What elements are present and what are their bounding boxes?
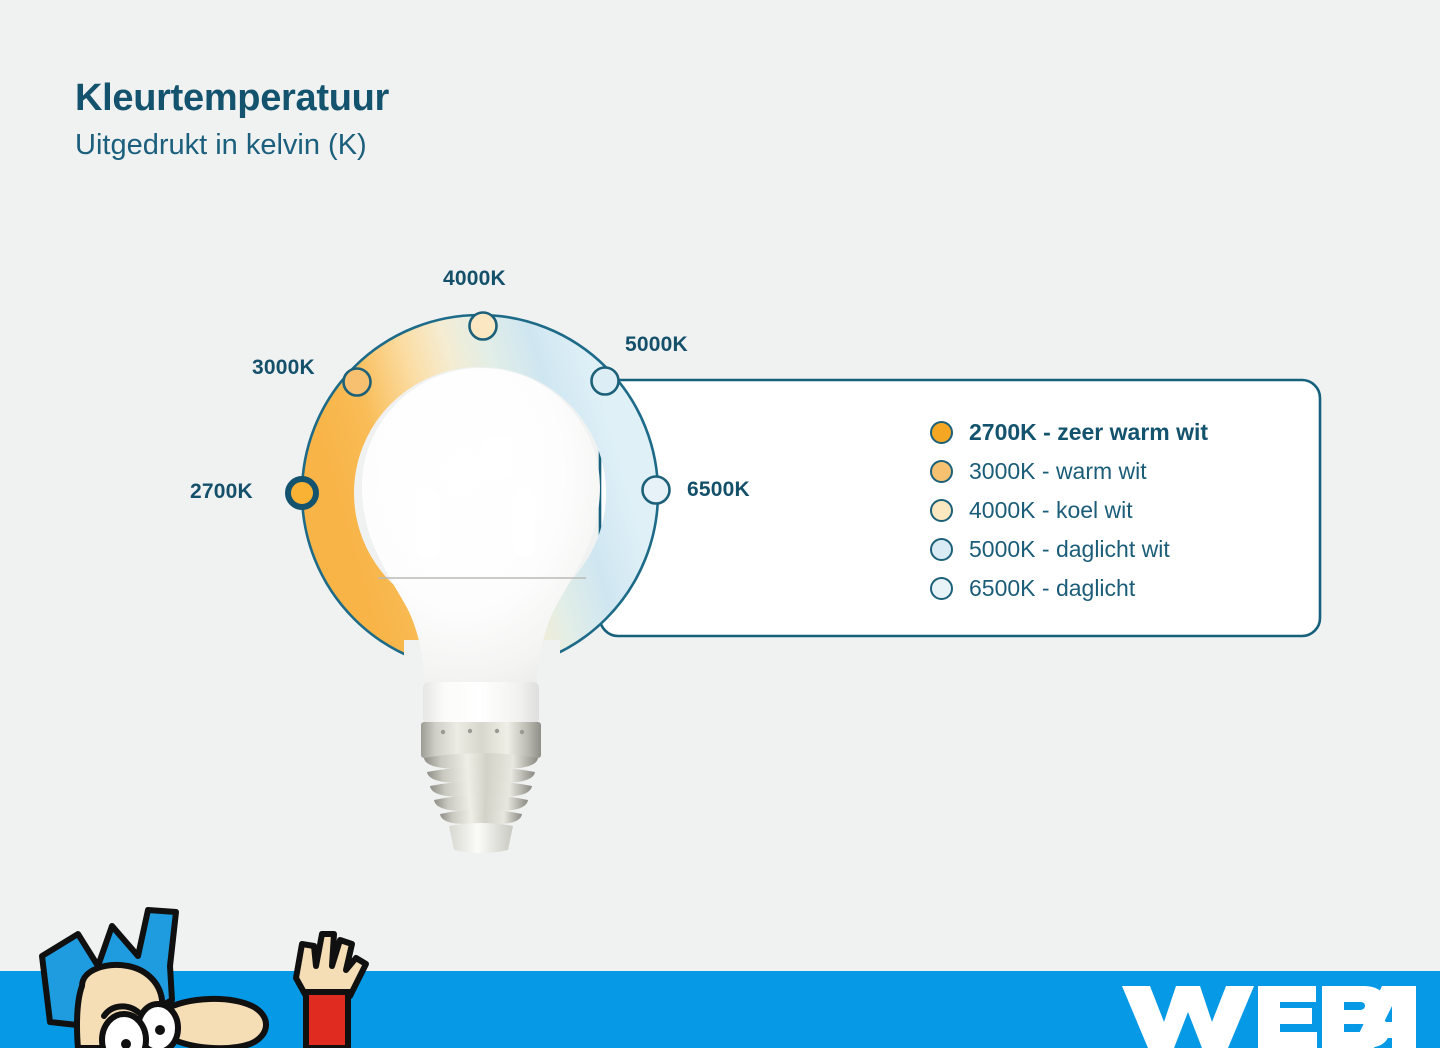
legend-item-6500k[interactable]: 6500K - daglicht bbox=[930, 569, 1208, 608]
infographic-canvas: Kleurtemperatuur Uitgedrukt in kelvin (K… bbox=[0, 0, 1440, 1048]
ring-label-3000k: 3000K bbox=[252, 356, 315, 380]
weba-logo-letters bbox=[1122, 986, 1416, 1048]
bulb-screw-threads bbox=[424, 753, 538, 824]
legend-item-3000k[interactable]: 3000K - warm wit bbox=[930, 452, 1208, 491]
bulb-highlight-left bbox=[415, 487, 439, 559]
legend-label-2700k: 2700K - zeer warm wit bbox=[969, 419, 1208, 446]
legend-label-4000k: 4000K - koel wit bbox=[969, 497, 1133, 524]
ring-label-6500k: 6500K bbox=[687, 478, 750, 502]
bulb-neck bbox=[423, 682, 539, 724]
marker-2700k-selected[interactable] bbox=[288, 479, 316, 507]
mascot-sleeve bbox=[306, 992, 348, 1048]
color-temperature-diagram: 4000K 3000K 5000K 2700K 6500K 2700K - ze… bbox=[0, 0, 1440, 980]
bulb-base-tip bbox=[449, 823, 513, 853]
legend-list: 2700K - zeer warm wit 3000K - warm wit 4… bbox=[930, 413, 1208, 608]
marker-5000k[interactable] bbox=[592, 368, 619, 395]
bulb-highlight-top bbox=[481, 437, 513, 479]
legend-item-2700k[interactable]: 2700K - zeer warm wit bbox=[930, 413, 1208, 452]
marker-4000k[interactable] bbox=[470, 313, 497, 340]
legend-dot-3000k bbox=[930, 460, 953, 483]
ring-label-4000k: 4000K bbox=[443, 267, 506, 291]
legend-dot-5000k bbox=[930, 538, 953, 561]
marker-3000k[interactable] bbox=[344, 369, 371, 396]
legend-label-5000k: 5000K - daglicht wit bbox=[969, 536, 1170, 563]
legend-dot-6500k bbox=[930, 577, 953, 600]
legend-item-5000k[interactable]: 5000K - daglicht wit bbox=[930, 530, 1208, 569]
legend-dot-2700k bbox=[930, 421, 953, 444]
bulb-highlight-right bbox=[513, 487, 535, 557]
legend-dot-4000k bbox=[930, 499, 953, 522]
mascot-pupil-right bbox=[155, 1025, 165, 1035]
legend-label-6500k: 6500K - daglicht bbox=[969, 575, 1135, 602]
legend-label-3000k: 3000K - warm wit bbox=[969, 458, 1147, 485]
weba-logo bbox=[1116, 982, 1416, 1048]
ring-label-2700k: 2700K bbox=[190, 480, 253, 504]
mascot-hand bbox=[296, 934, 366, 996]
ring-label-5000k: 5000K bbox=[625, 333, 688, 357]
mascot-figure bbox=[42, 910, 366, 1048]
mascot-illustration bbox=[20, 900, 380, 1048]
bulb-metal-collar bbox=[421, 722, 541, 758]
legend-item-4000k[interactable]: 4000K - koel wit bbox=[930, 491, 1208, 530]
marker-6500k[interactable] bbox=[643, 477, 670, 504]
